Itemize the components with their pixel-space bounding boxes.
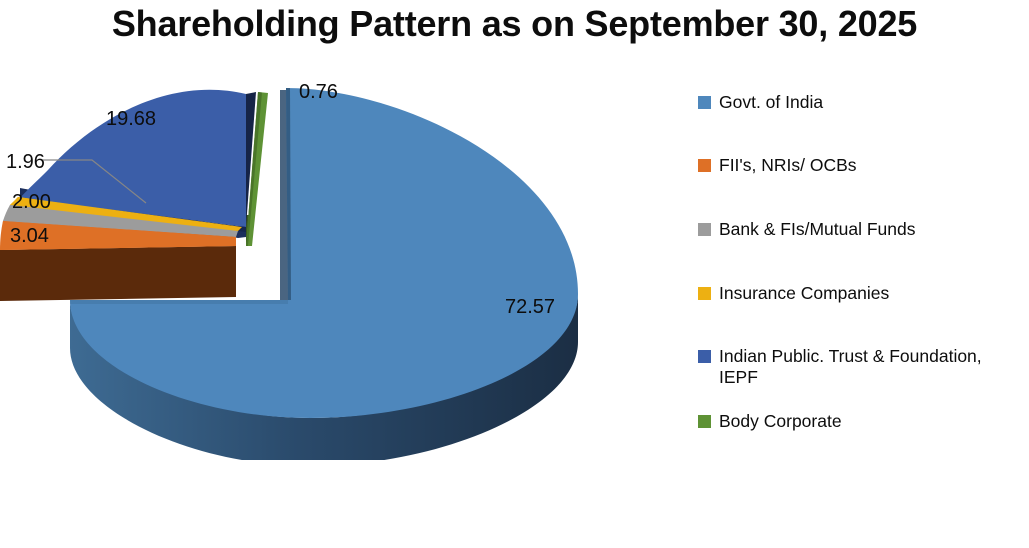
legend-item-fii-nris-ocbs[interactable]: FII's, NRIs/ OCBs xyxy=(698,155,1029,176)
plot-area: 19.68 0.76 1.96 2.00 3.04 72.57 xyxy=(0,60,680,460)
data-label-fii-nris: 3.04 xyxy=(10,225,49,247)
legend-swatch-icon xyxy=(698,159,711,172)
pie-chart-container: Shareholding Pattern as on September 30,… xyxy=(0,0,1029,548)
data-label-body-corporate: 0.76 xyxy=(299,81,338,103)
legend-swatch-icon xyxy=(698,96,711,109)
legend-swatch-icon xyxy=(698,350,711,363)
legend-swatch-icon xyxy=(698,287,711,300)
page-title: Shareholding Pattern as on September 30,… xyxy=(0,2,1029,46)
legend-label: Body Corporate xyxy=(719,411,842,432)
legend-swatch-icon xyxy=(698,415,711,428)
legend-label: Govt. of India xyxy=(719,92,823,113)
pie-chart-svg: 19.68 0.76 1.96 2.00 3.04 72.57 xyxy=(0,60,680,460)
legend-item-insurance-companies[interactable]: Insurance Companies xyxy=(698,283,1029,304)
legend-item-indian-public[interactable]: Indian Public. Trust & Foundation, IEPF xyxy=(698,346,1029,388)
legend-swatch-icon xyxy=(698,223,711,236)
legend-item-body-corporate[interactable]: Body Corporate xyxy=(698,411,1029,432)
legend-label: Insurance Companies xyxy=(719,283,889,304)
legend-label: Bank & FIs/Mutual Funds xyxy=(719,219,915,240)
legend-item-bank-fis-mutual-funds[interactable]: Bank & FIs/Mutual Funds xyxy=(698,219,1029,240)
data-label-bank-fis: 2.00 xyxy=(12,191,51,213)
data-label-insurance: 1.96 xyxy=(6,151,45,173)
legend: Govt. of India FII's, NRIs/ OCBs Bank & … xyxy=(698,92,1029,452)
legend-label: FII's, NRIs/ OCBs xyxy=(719,155,857,176)
legend-item-govt-of-india[interactable]: Govt. of India xyxy=(698,92,1029,113)
data-label-govt-of-india: 72.57 xyxy=(505,296,555,318)
data-label-indian-public: 19.68 xyxy=(106,108,156,130)
legend-label: Indian Public. Trust & Foundation, IEPF xyxy=(719,346,982,388)
